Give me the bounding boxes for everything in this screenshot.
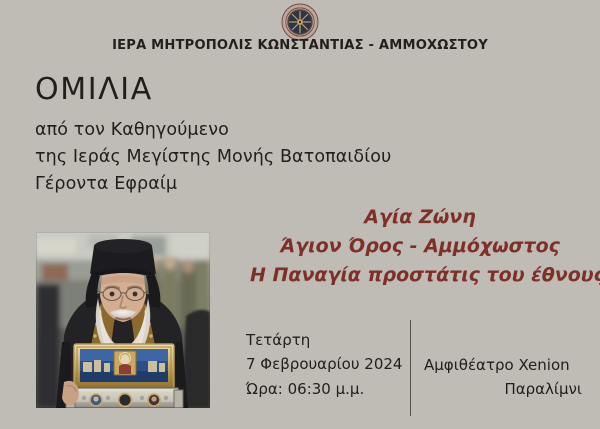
diocese-title: ΙΕΡΑ ΜΗΤΡΟΠΟΛΙΣ ΚΩΝΣΤΑΝΤΙΑΣ - ΑΜΜΟΧΩΣΤΟΥ [9, 37, 591, 53]
theme-line-2: Άγιον Όρος - Αμμόχωστος [250, 232, 590, 261]
theme-line-1: Αγία Ζώνη [250, 203, 590, 232]
event-venue-block: Αμφιθέατρο Xenion Παραλίμνι [424, 353, 582, 402]
event-date: 7 Φεβρουαρίου 2024 [246, 352, 396, 376]
event-day-name: Τετάρτη [246, 328, 396, 352]
headline-line-2: της Ιεράς Μεγίστης Μονής Βατοπαιδίου [35, 144, 455, 171]
headline-line-1: από τον Καθηγούμενο [35, 117, 455, 144]
theme-block: Αγία Ζώνη Άγιον Όρος - Αμμόχωστος Η Πανα… [250, 203, 590, 290]
elder-holding-reliquary-photo [36, 232, 210, 408]
vertical-divider [410, 320, 411, 416]
page-title: ΟΜΙΛΙΑ [35, 72, 455, 107]
headline-block: ΟΜΙΛΙΑ από τον Καθηγούμενο της Ιεράς Μεγ… [35, 72, 455, 197]
theme-line-3: Η Παναγία προστάτις του έθνους [250, 261, 590, 290]
headline-line-3: Γέροντα Εφραίμ [35, 171, 455, 198]
event-date-block: Τετάρτη 7 Φεβρουαρίου 2024 Ώρα: 06:30 μ.… [246, 328, 396, 401]
event-poster: ΙΕΡΑ ΜΗΤΡΟΠΟΛΙΣ ΚΩΝΣΤΑΝΤΙΑΣ - ΑΜΜΟΧΩΣΤΟΥ… [0, 0, 600, 429]
venue-name: Αμφιθέατρο Xenion [424, 353, 582, 377]
venue-city: Παραλίμνι [424, 377, 582, 401]
event-time: Ώρα: 06:30 μ.μ. [246, 377, 396, 401]
metropolis-seal-icon [281, 3, 319, 41]
